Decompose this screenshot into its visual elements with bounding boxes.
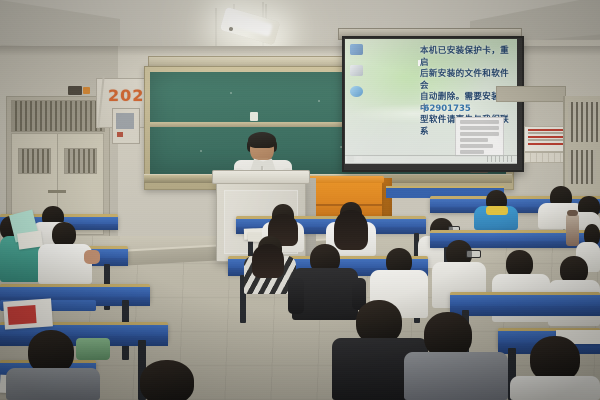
sign-line — [528, 136, 564, 138]
student-long-hair — [334, 210, 368, 250]
door-handle-icon[interactable] — [48, 190, 66, 193]
classroom-photo: 202 本机已安装保护卡，重启 后新安装的文件和软件会 自动删除。需要安装大中 … — [0, 0, 600, 400]
student-long-hair — [252, 244, 284, 278]
student-body — [404, 352, 508, 400]
student-body — [510, 376, 600, 400]
right-door-window-grille-2 — [568, 150, 596, 184]
glasses-icon — [466, 250, 481, 258]
indicator-light-icon — [83, 87, 90, 94]
student-arm — [84, 250, 100, 264]
screen-glare — [345, 39, 517, 163]
junction-box-icon — [68, 86, 82, 95]
student-collar — [486, 206, 508, 215]
backpack — [76, 338, 110, 360]
sign-line — [528, 139, 564, 141]
room-number-label: 202 — [108, 86, 148, 106]
conduit-icon — [215, 8, 217, 50]
door-window-grille-a — [18, 148, 51, 174]
door-vent-grille-icon — [11, 100, 105, 132]
sign-line — [528, 129, 564, 131]
desk-row-apron — [450, 306, 600, 316]
book-cover — [7, 305, 36, 325]
chalk-stick-icon[interactable] — [250, 112, 258, 121]
chalk-mark — [200, 150, 202, 152]
student-body — [38, 244, 92, 284]
electrical-panel-light — [117, 132, 123, 137]
podium-top — [212, 170, 310, 184]
presenter-hair — [248, 132, 276, 148]
student-body — [6, 368, 100, 400]
sign-line — [528, 143, 564, 145]
sign-line — [528, 132, 564, 134]
student-arm — [288, 278, 304, 314]
right-door-window-grille — [568, 102, 598, 142]
transom-panel — [496, 86, 566, 102]
electrical-panel-face — [116, 113, 134, 129]
bottle-cap — [567, 210, 578, 216]
student-head — [140, 360, 194, 400]
door-window-grille-b — [64, 148, 97, 174]
water-bottle — [566, 214, 579, 246]
chalk-mark — [230, 92, 232, 94]
chalk-mark — [318, 100, 320, 102]
wall-notice-sign — [524, 126, 568, 152]
